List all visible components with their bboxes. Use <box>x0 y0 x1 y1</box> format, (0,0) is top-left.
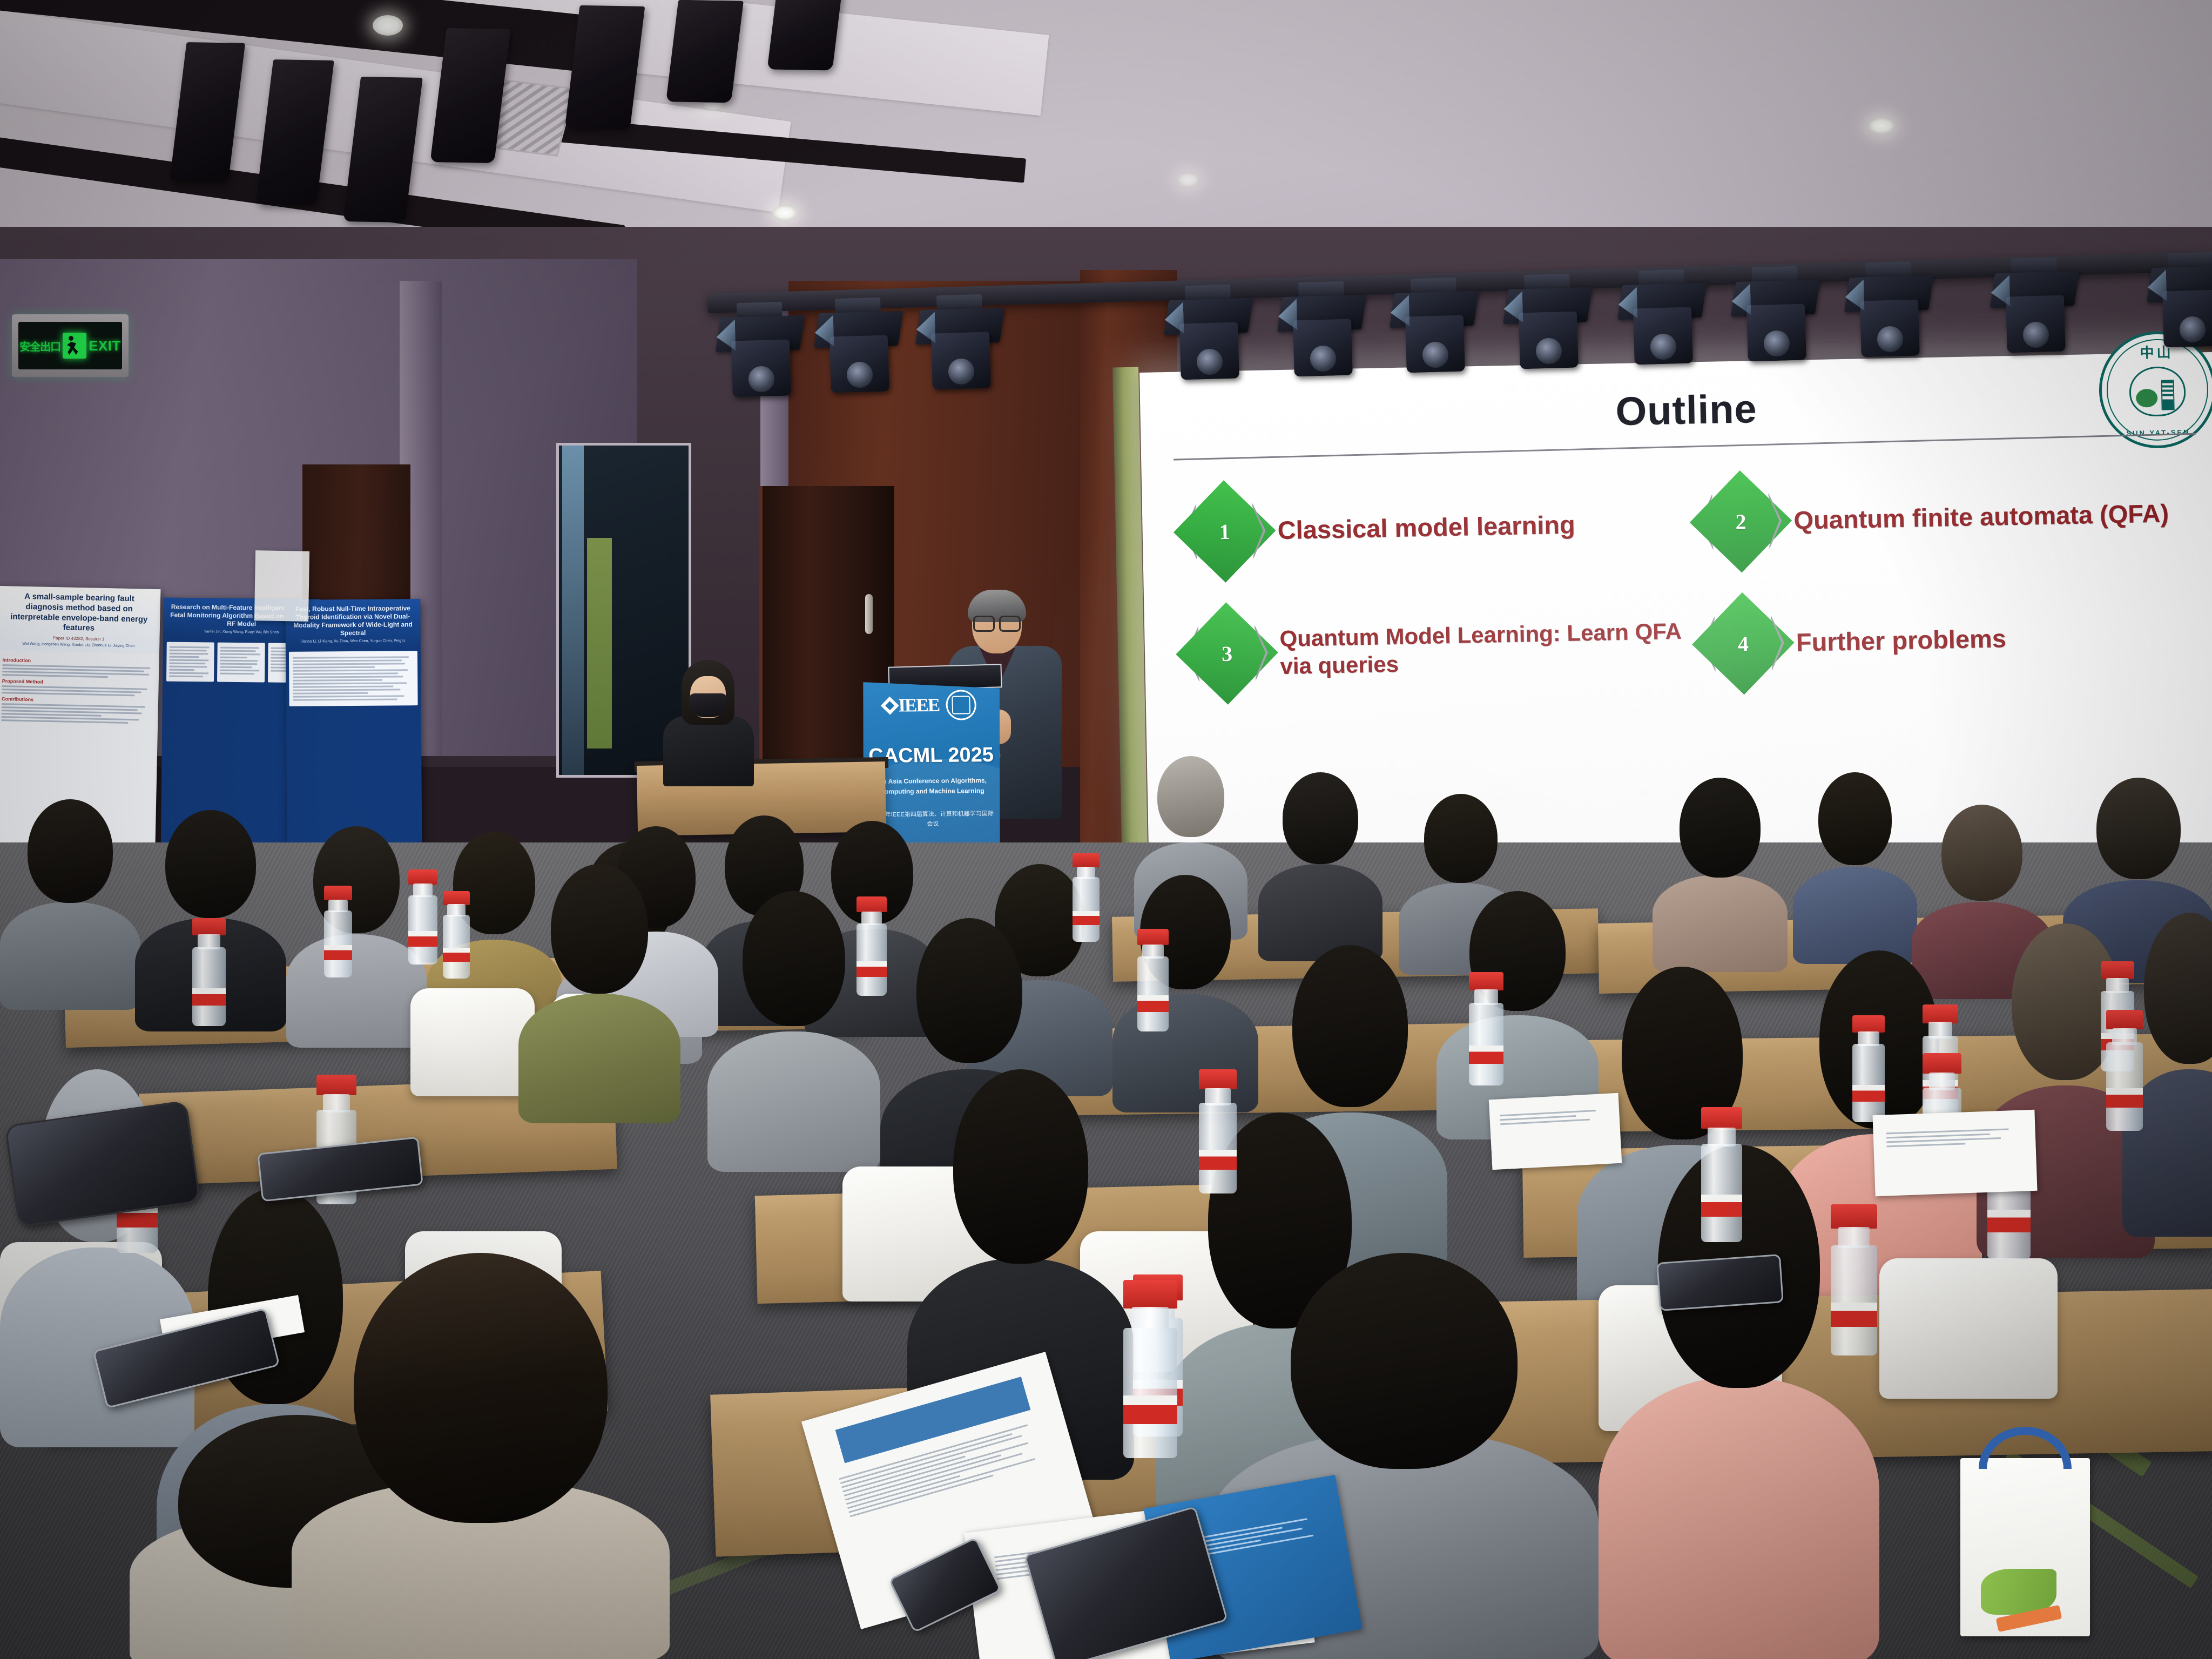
session-chair-person <box>660 660 757 784</box>
person-head <box>1941 805 2022 901</box>
water-bottle[interactable] <box>192 918 226 1026</box>
audience-member-foreground <box>292 1253 670 1659</box>
downlight-icon <box>1869 118 1894 134</box>
person-torso <box>707 1031 880 1172</box>
stage-light <box>718 301 803 401</box>
bottle-label <box>1137 995 1169 1012</box>
bottle-label <box>1199 1150 1237 1170</box>
water-bottle[interactable] <box>324 886 352 977</box>
bottle-cap <box>324 886 352 900</box>
stage-light <box>1993 257 2078 356</box>
wall-notice <box>254 550 309 622</box>
bottle-label <box>1469 1046 1503 1064</box>
stage-light <box>1847 261 1932 361</box>
outline-label: Classical model learning <box>1277 509 1575 546</box>
outline-label: Further problems <box>1796 623 2006 658</box>
university-seal-icon <box>946 690 976 720</box>
bottle-cap <box>1073 853 1100 867</box>
bottle-cap <box>2101 961 2134 979</box>
outline-number: 1 <box>1219 518 1230 544</box>
diamond-badge-2: 2 <box>1689 464 1792 579</box>
tote-bag[interactable] <box>1960 1458 2090 1636</box>
bottle-label <box>1987 1210 2031 1232</box>
handout-paper[interactable] <box>1872 1110 2037 1196</box>
stage-light <box>1620 269 1705 368</box>
audience-member <box>518 864 680 1123</box>
water-bottle[interactable] <box>408 869 437 965</box>
bottle-body <box>324 911 352 977</box>
person-head <box>743 891 845 1026</box>
bottle-body <box>1073 877 1100 942</box>
audience-member <box>286 826 427 1042</box>
person-torso <box>1653 875 1788 972</box>
logo-emblem-icon <box>2129 366 2186 417</box>
person-torso <box>1793 867 1917 964</box>
water-bottle[interactable] <box>1701 1107 1742 1242</box>
bottle-body <box>2106 1042 2143 1131</box>
bottle-label <box>1852 1085 1885 1102</box>
person-head <box>1818 772 1892 865</box>
poster-authors: Jianbo Li, Li Xiang, Xu Zhou, Wen Chen, … <box>292 638 414 645</box>
ieee-label: IEEE <box>898 694 940 717</box>
downlight-icon <box>1177 173 1199 187</box>
stage-light <box>1734 266 1818 365</box>
bottle-cap <box>1137 929 1169 945</box>
bottle-label <box>1123 1395 1177 1424</box>
ieee-logo-icon: IEEE <box>883 694 940 717</box>
bottle-body <box>1137 956 1169 1031</box>
person-torso <box>663 716 754 786</box>
diamond-badge-3: 3 <box>1175 596 1279 711</box>
outline-number: 3 <box>1222 640 1233 666</box>
bottle-body <box>443 915 470 979</box>
water-bottle[interactable] <box>1852 1015 1885 1122</box>
stage-light <box>2149 252 2212 351</box>
stage-light <box>1392 277 1477 376</box>
slide-title: Outline <box>1171 377 2201 443</box>
ceiling-baffle <box>666 0 744 103</box>
bottle-cap <box>192 918 226 935</box>
handout-paper[interactable] <box>1489 1093 1622 1170</box>
person-head <box>1424 794 1498 883</box>
person-head <box>916 918 1022 1063</box>
bottle-label <box>1073 911 1100 925</box>
window-green-reflection <box>587 538 612 748</box>
person-torso <box>1599 1377 1879 1659</box>
person-head <box>1291 1253 1518 1469</box>
person-head <box>953 1069 1088 1264</box>
audience-member <box>707 891 880 1172</box>
person-head <box>2096 778 2181 879</box>
audience-member <box>1258 772 1382 950</box>
face-mask-icon <box>689 693 727 717</box>
diamond-badge-1: 1 <box>1173 474 1277 589</box>
outline-item-2: 2 Quantum finite automata (QFA) <box>1689 456 2204 579</box>
water-bottle[interactable] <box>1199 1069 1237 1193</box>
conference-hall-photo: 安全出口 EXIT A small-sample bearing fault d… <box>0 0 2212 1659</box>
bottle-cap <box>1831 1204 1877 1229</box>
bottle-cap <box>316 1075 356 1095</box>
bottle-label <box>857 961 887 977</box>
podium-logos: IEEE <box>867 690 993 721</box>
water-bottle-foreground[interactable] <box>1123 1280 1177 1458</box>
person-head <box>28 799 113 903</box>
glasses-icon <box>972 616 1022 629</box>
downlight-icon <box>373 15 403 36</box>
bottle-cap <box>1701 1107 1742 1129</box>
ieee-diamond-icon <box>880 697 899 715</box>
bottle-body <box>1469 1003 1503 1085</box>
window-reflection <box>562 446 584 775</box>
emergency-exit-sign: 安全出口 EXIT <box>12 314 129 377</box>
outline-grid: 1 Classical model learning 2 Quantum fin… <box>1173 456 2207 711</box>
downlight-icon <box>772 205 797 220</box>
stage-light <box>1280 281 1365 380</box>
outline-item-4: 4 Further problems <box>1691 578 2207 701</box>
door-handle[interactable] <box>865 594 873 634</box>
bottle-cap <box>1852 1015 1885 1033</box>
water-bottle[interactable] <box>857 896 887 996</box>
person-head <box>354 1253 608 1523</box>
bottle-cap <box>1923 1053 1961 1074</box>
outline-label: Quantum Model Learning: Learn QFA via qu… <box>1279 617 1690 680</box>
outline-item-1: 1 Classical model learning <box>1173 466 1688 589</box>
bottle-body <box>192 947 226 1026</box>
poster-authors: Wei Wang, Hongzhen Wang, Xiaobo Liu, Zhe… <box>4 641 153 650</box>
person-torso <box>0 902 140 1010</box>
bottle-cap <box>408 869 437 885</box>
conference-full-name: 4th Asia Conference on Algorithms, Compu… <box>869 775 995 797</box>
bottle-cap <box>1123 1280 1177 1309</box>
audience-member <box>1793 772 1917 956</box>
person-head <box>1157 756 1224 837</box>
bottle-body <box>408 895 437 965</box>
bottle-body <box>1852 1044 1885 1122</box>
chair[interactable] <box>410 988 535 1096</box>
person-head <box>165 810 256 918</box>
bottle-body <box>857 923 887 996</box>
running-person-icon <box>63 333 86 359</box>
bottle-cap <box>857 896 887 912</box>
stage-light <box>918 294 1003 393</box>
ceiling-baffle <box>767 0 842 70</box>
outline-number: 2 <box>1735 509 1746 534</box>
bottle-body <box>1831 1245 1877 1355</box>
bottle-label <box>408 931 437 946</box>
bottle-label <box>443 948 470 962</box>
bottle-cap <box>1923 1004 1958 1023</box>
person-head <box>551 864 648 994</box>
bottle-cap <box>1469 972 1503 990</box>
bottle-body <box>1199 1103 1237 1193</box>
outline-number: 4 <box>1737 631 1749 656</box>
water-bottle[interactable] <box>1073 853 1100 942</box>
water-bottle[interactable] <box>2106 1010 2143 1131</box>
stage-light <box>1506 273 1590 373</box>
person-head <box>2144 913 2212 1064</box>
bottle-label <box>1701 1195 1742 1216</box>
exit-sign-english-label: EXIT <box>89 338 121 354</box>
person-head <box>1283 772 1358 864</box>
person-head <box>1292 945 1408 1107</box>
stage-light <box>1166 284 1251 383</box>
bottle-body <box>1701 1144 1742 1243</box>
smartphone-on-table[interactable] <box>1656 1254 1784 1311</box>
water-bottle[interactable] <box>1831 1204 1877 1355</box>
water-bottle[interactable] <box>443 891 470 979</box>
bottle-label <box>2106 1088 2143 1108</box>
bottle-body <box>1123 1328 1177 1458</box>
audience-member <box>1653 778 1788 961</box>
chair[interactable] <box>1879 1258 2058 1399</box>
person-torso <box>518 994 680 1123</box>
poster-title: Fast, Robust Null-Time Intraoperative Th… <box>292 604 414 638</box>
exit-sign-chinese-label: 安全出口 <box>19 338 60 354</box>
outline-item-3: 3 Quantum Model Learning: Learn QFA via … <box>1175 588 1690 711</box>
audience-member <box>0 799 140 1004</box>
diamond-badge-4: 4 <box>1691 586 1795 702</box>
person-torso <box>286 934 427 1048</box>
bottle-label <box>324 945 352 960</box>
bottle-label <box>1831 1303 1877 1327</box>
stage-light <box>817 297 901 396</box>
poster-title: A small-sample bearing fault diagnosis m… <box>4 591 154 635</box>
outline-label: Quantum finite automata (QFA) <box>1793 498 2169 536</box>
bottle-cap <box>1199 1069 1237 1089</box>
water-bottle[interactable] <box>1469 972 1503 1085</box>
water-bottle[interactable] <box>1137 929 1169 1031</box>
bottle-cap <box>443 891 470 905</box>
bottle-label <box>192 988 226 1006</box>
person-head <box>1680 778 1761 878</box>
bottle-cap <box>2106 1010 2143 1029</box>
